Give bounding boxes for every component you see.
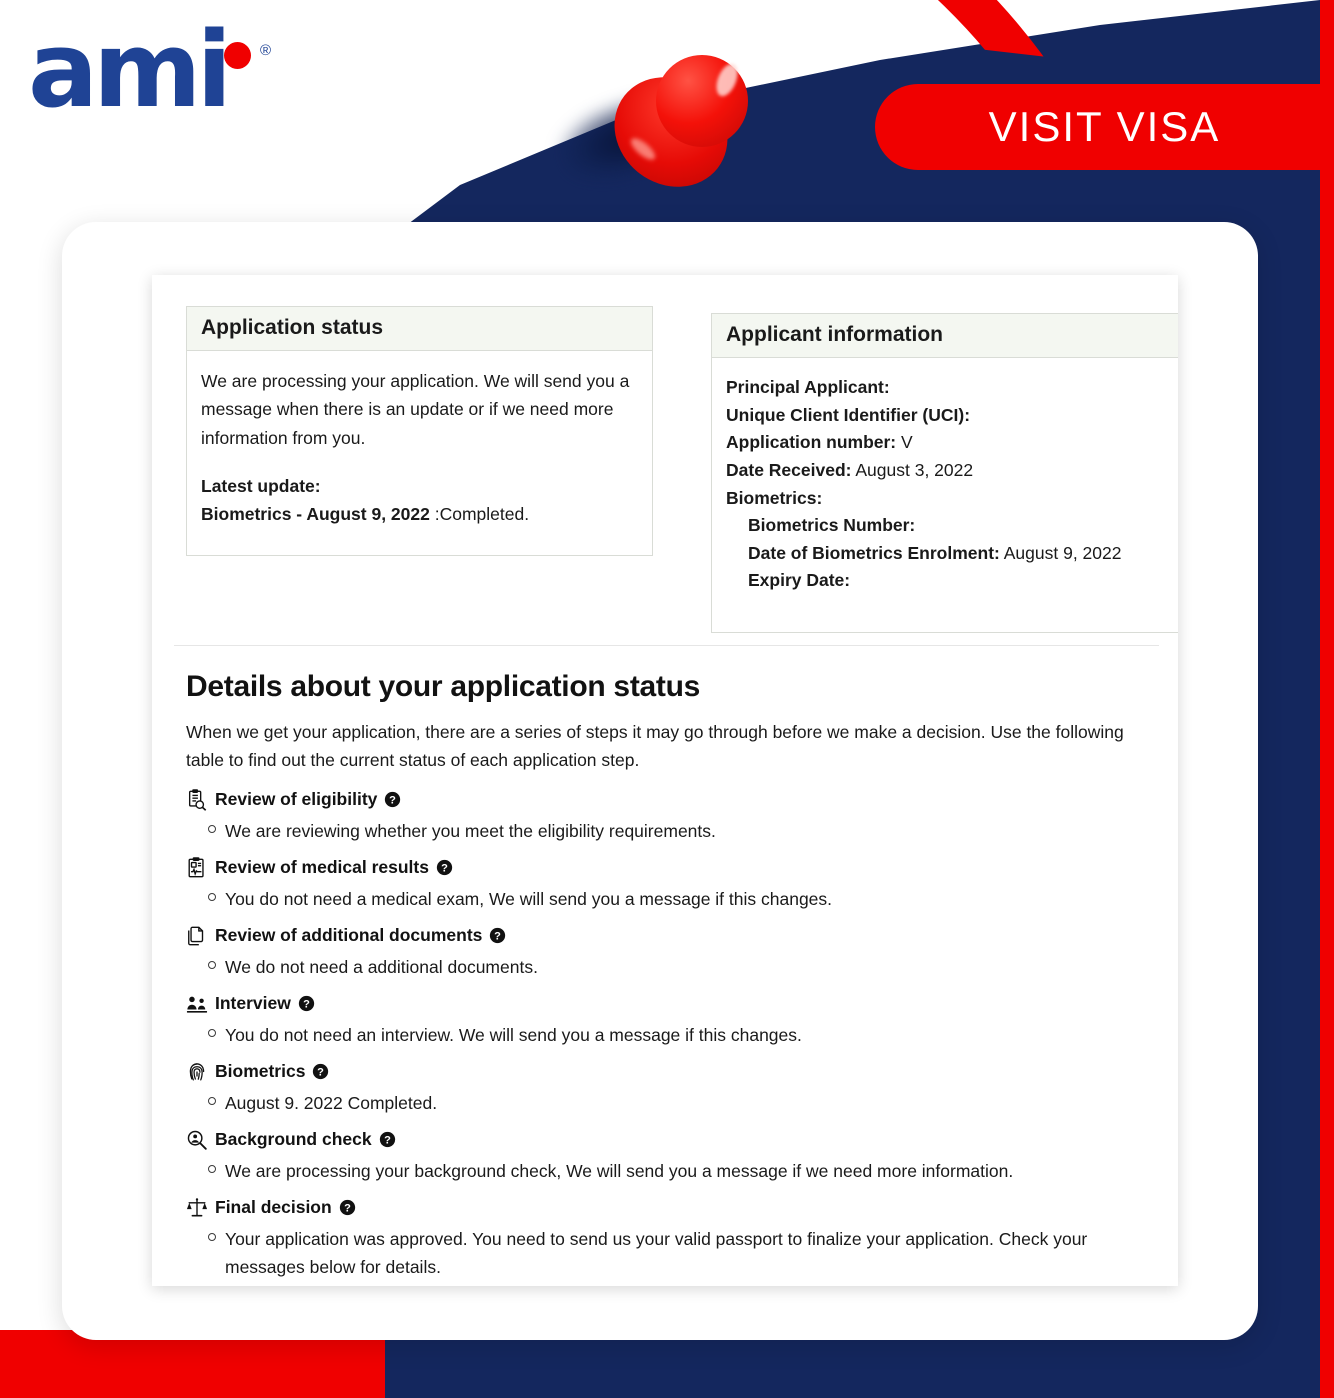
applicant-info-key: Date of Biometrics Enrolment: [748, 543, 1000, 563]
status-step-label: Biometrics [215, 1061, 305, 1082]
applicant-info-row: Principal Applicant: [726, 374, 1166, 402]
pushpin-icon [560, 45, 760, 205]
status-step-header: Review of eligibility? [186, 789, 1152, 811]
status-step-description: You do not need a medical exam, We will … [225, 885, 832, 913]
status-step-description: We are processing your background check,… [225, 1157, 1013, 1185]
applicant-info-row: Biometrics: [726, 485, 1166, 513]
list-bullet-icon [208, 961, 216, 969]
applicant-info-key: Expiry Date: [748, 570, 850, 590]
applicant-info-row: Date Received: August 3, 2022 [726, 457, 1166, 485]
status-step-header: Review of medical results? [186, 857, 1152, 879]
status-step-label: Review of eligibility [215, 789, 377, 810]
status-step-description: Your application was approved. You need … [225, 1225, 1130, 1281]
application-status-paragraph: We are processing your application. We w… [201, 367, 638, 452]
help-question-icon[interactable]: ? [384, 791, 401, 808]
help-question-icon[interactable]: ? [436, 859, 453, 876]
medical-record-icon [186, 857, 208, 879]
red-right-stripe [1320, 0, 1334, 1398]
fingerprint-icon [186, 1061, 208, 1083]
application-latest-update: Latest update: Biometrics - August 9, 20… [201, 472, 638, 528]
section-divider [174, 645, 1159, 646]
status-step-description-row: Your application was approved. You need … [186, 1225, 1152, 1281]
status-step-header: Final decision? [186, 1197, 1152, 1219]
status-step: Final decision?Your application was appr… [186, 1197, 1152, 1281]
status-step-description-row: August 9. 2022 Completed. [186, 1089, 1152, 1117]
logo-trademark: ® [260, 42, 271, 59]
visit-visa-banner: VISIT VISA [875, 84, 1334, 170]
status-step-header: Interview? [186, 993, 1152, 1015]
applicant-info-value: V [896, 432, 913, 452]
status-step-description: We are reviewing whether you meet the el… [225, 817, 716, 845]
list-bullet-icon [208, 825, 216, 833]
applicant-info-value: August 9, 2022 [1000, 543, 1122, 563]
status-step-description: You do not need an interview. We will se… [225, 1021, 802, 1049]
status-step: Review of eligibility?We are reviewing w… [186, 789, 1152, 845]
status-step-label: Background check [215, 1129, 372, 1150]
scales-icon [186, 1197, 208, 1219]
applicant-info-key: Principal Applicant: [726, 377, 890, 397]
status-step: Background check?We are processing your … [186, 1129, 1152, 1185]
status-step-description: We do not need a additional documents. [225, 953, 538, 981]
latest-update-rest: :Completed. [430, 504, 529, 524]
applicant-info-key: Biometrics: [726, 488, 822, 508]
documents-icon [186, 925, 208, 947]
svg-text:?: ? [344, 1203, 351, 1215]
svg-text:?: ? [384, 1135, 391, 1147]
status-step-header: Background check? [186, 1129, 1152, 1151]
applicant-info-key: Date Received: [726, 460, 851, 480]
details-title: Details about your application status [186, 670, 1152, 704]
status-step-label: Final decision [215, 1197, 332, 1218]
list-bullet-icon [208, 1165, 216, 1173]
person-search-icon [186, 1129, 208, 1151]
svg-text:?: ? [318, 1067, 325, 1079]
status-steps-list: Review of eligibility?We are reviewing w… [186, 789, 1152, 1281]
help-question-icon[interactable]: ? [489, 927, 506, 944]
list-bullet-icon [208, 1097, 216, 1105]
application-status-panel: Application status We are processing you… [186, 306, 653, 556]
svg-text:?: ? [390, 795, 397, 807]
help-question-icon[interactable]: ? [298, 995, 315, 1012]
applicant-information-title: Applicant information [726, 323, 1166, 347]
applicant-info-row: Expiry Date: [726, 567, 1166, 595]
clipboard-search-icon [186, 789, 208, 811]
applicant-info-key: Biometrics Number: [748, 515, 915, 535]
details-section: Details about your application status Wh… [186, 670, 1152, 1283]
applicant-info-value: August 3, 2022 [851, 460, 973, 480]
applicant-info-key: Application number: [726, 432, 896, 452]
status-step: Review of medical results?You do not nee… [186, 857, 1152, 913]
applicant-info-row: Application number: V [726, 429, 1166, 457]
details-intro: When we get your application, there are … [186, 718, 1152, 775]
status-step-label: Review of additional documents [215, 925, 482, 946]
content-card: Application status We are processing you… [152, 275, 1178, 1286]
applicant-info-row: Date of Biometrics Enrolment: August 9, … [726, 540, 1166, 568]
status-step-label: Review of medical results [215, 857, 429, 878]
list-bullet-icon [208, 1233, 216, 1241]
status-step-description-row: We do not need a additional documents. [186, 953, 1152, 981]
status-step-description-row: We are reviewing whether you meet the el… [186, 817, 1152, 845]
latest-update-label: Latest update: [201, 476, 321, 496]
applicant-information-body: Principal Applicant:Unique Client Identi… [712, 358, 1178, 609]
redaction-box [855, 597, 1093, 623]
applicant-information-panel: Applicant information Principal Applican… [711, 313, 1178, 633]
svg-text:?: ? [303, 999, 310, 1011]
status-step-description-row: You do not need a medical exam, We will … [186, 885, 1152, 913]
svg-text:?: ? [495, 931, 502, 943]
status-step-label: Interview [215, 993, 291, 1014]
application-status-body: We are processing your application. We w… [187, 351, 652, 542]
status-step-header: Review of additional documents? [186, 925, 1152, 947]
svg-text:?: ? [441, 863, 448, 875]
status-step: Biometrics?August 9. 2022 Completed. [186, 1061, 1152, 1117]
status-step: Interview?You do not need an interview. … [186, 993, 1152, 1049]
application-status-title: Application status [201, 316, 638, 340]
logo-red-dot-icon [224, 42, 251, 69]
status-step-description-row: We are processing your background check,… [186, 1157, 1152, 1185]
page-root: ami ® VISIT VISA Application status We a… [0, 0, 1334, 1398]
visit-visa-label: VISIT VISA [989, 103, 1221, 151]
status-step-description-row: You do not need an interview. We will se… [186, 1021, 1152, 1049]
panels-row: Application status We are processing you… [186, 306, 1158, 646]
latest-update-bold-value: Biometrics - August 9, 2022 [201, 504, 430, 524]
status-step-description: August 9. 2022 Completed. [225, 1089, 437, 1117]
applicant-info-row: Unique Client Identifier (UCI): [726, 402, 1166, 430]
list-bullet-icon [208, 893, 216, 901]
logo-wordmark: ami [28, 18, 278, 122]
application-status-header: Application status [187, 307, 652, 351]
applicant-information-header: Applicant information [712, 314, 1178, 358]
help-question-icon[interactable]: ? [339, 1199, 356, 1216]
applicant-info-row: Biometrics Number: [726, 512, 1166, 540]
list-bullet-icon [208, 1029, 216, 1037]
ami-logo: ami ® [28, 18, 278, 138]
interview-people-icon [186, 993, 208, 1015]
applicant-info-key: Unique Client Identifier (UCI): [726, 405, 970, 425]
status-step-header: Biometrics? [186, 1061, 1152, 1083]
help-question-icon[interactable]: ? [312, 1063, 329, 1080]
status-step: Review of additional documents?We do not… [186, 925, 1152, 981]
help-question-icon[interactable]: ? [379, 1131, 396, 1148]
